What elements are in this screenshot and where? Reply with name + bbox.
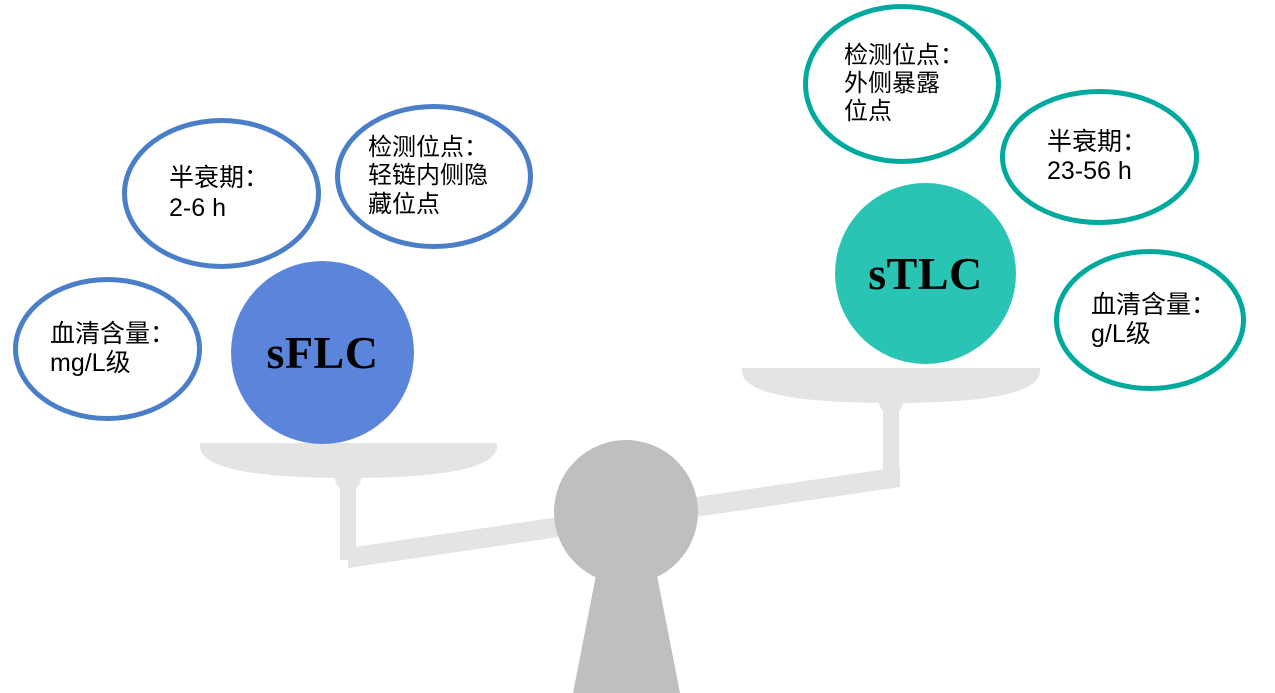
sflc-node-label: sFLC — [267, 326, 379, 379]
stlc-node-label: sTLC — [868, 247, 982, 300]
stlc-detection-site-text: 检测位点： 外侧暴露 位点 — [844, 42, 964, 127]
sflc-detection-site-text: 检测位点： 轻链内侧隐 藏位点 — [368, 134, 488, 219]
stlc-bubble-half-life[interactable]: 半衰期： 23-56 h — [1000, 89, 1199, 225]
stlc-bubble-detection-site[interactable]: 检测位点： 外侧暴露 位点 — [803, 4, 1001, 164]
stlc-bubble-serum-level[interactable]: 血清含量： g/L级 — [1054, 249, 1246, 391]
sflc-bubble-detection-site[interactable]: 检测位点： 轻链内侧隐 藏位点 — [335, 104, 533, 249]
stlc-serum-level-text: 血清含量： g/L级 — [1091, 291, 1216, 350]
sflc-bubble-serum-level[interactable]: 血清含量： mg/L级 — [13, 277, 202, 421]
stlc-half-life-text: 半衰期： 23-56 h — [1047, 128, 1147, 187]
balance-fulcrum — [554, 440, 698, 693]
sflc-serum-level-text: 血清含量： mg/L级 — [50, 320, 175, 379]
sflc-node[interactable]: sFLC — [231, 261, 414, 444]
sflc-half-life-text: 半衰期： 2-6 h — [169, 164, 269, 223]
left-pan-hanger — [335, 465, 361, 560]
sflc-bubble-half-life[interactable]: 半衰期： 2-6 h — [122, 118, 321, 269]
right-pan — [742, 368, 1040, 403]
left-pan — [200, 443, 497, 478]
diagram-canvas: sFLC 血清含量： mg/L级 半衰期： 2-6 h 检测位点： 轻链内侧隐 … — [0, 0, 1275, 693]
stlc-node[interactable]: sTLC — [835, 183, 1016, 364]
